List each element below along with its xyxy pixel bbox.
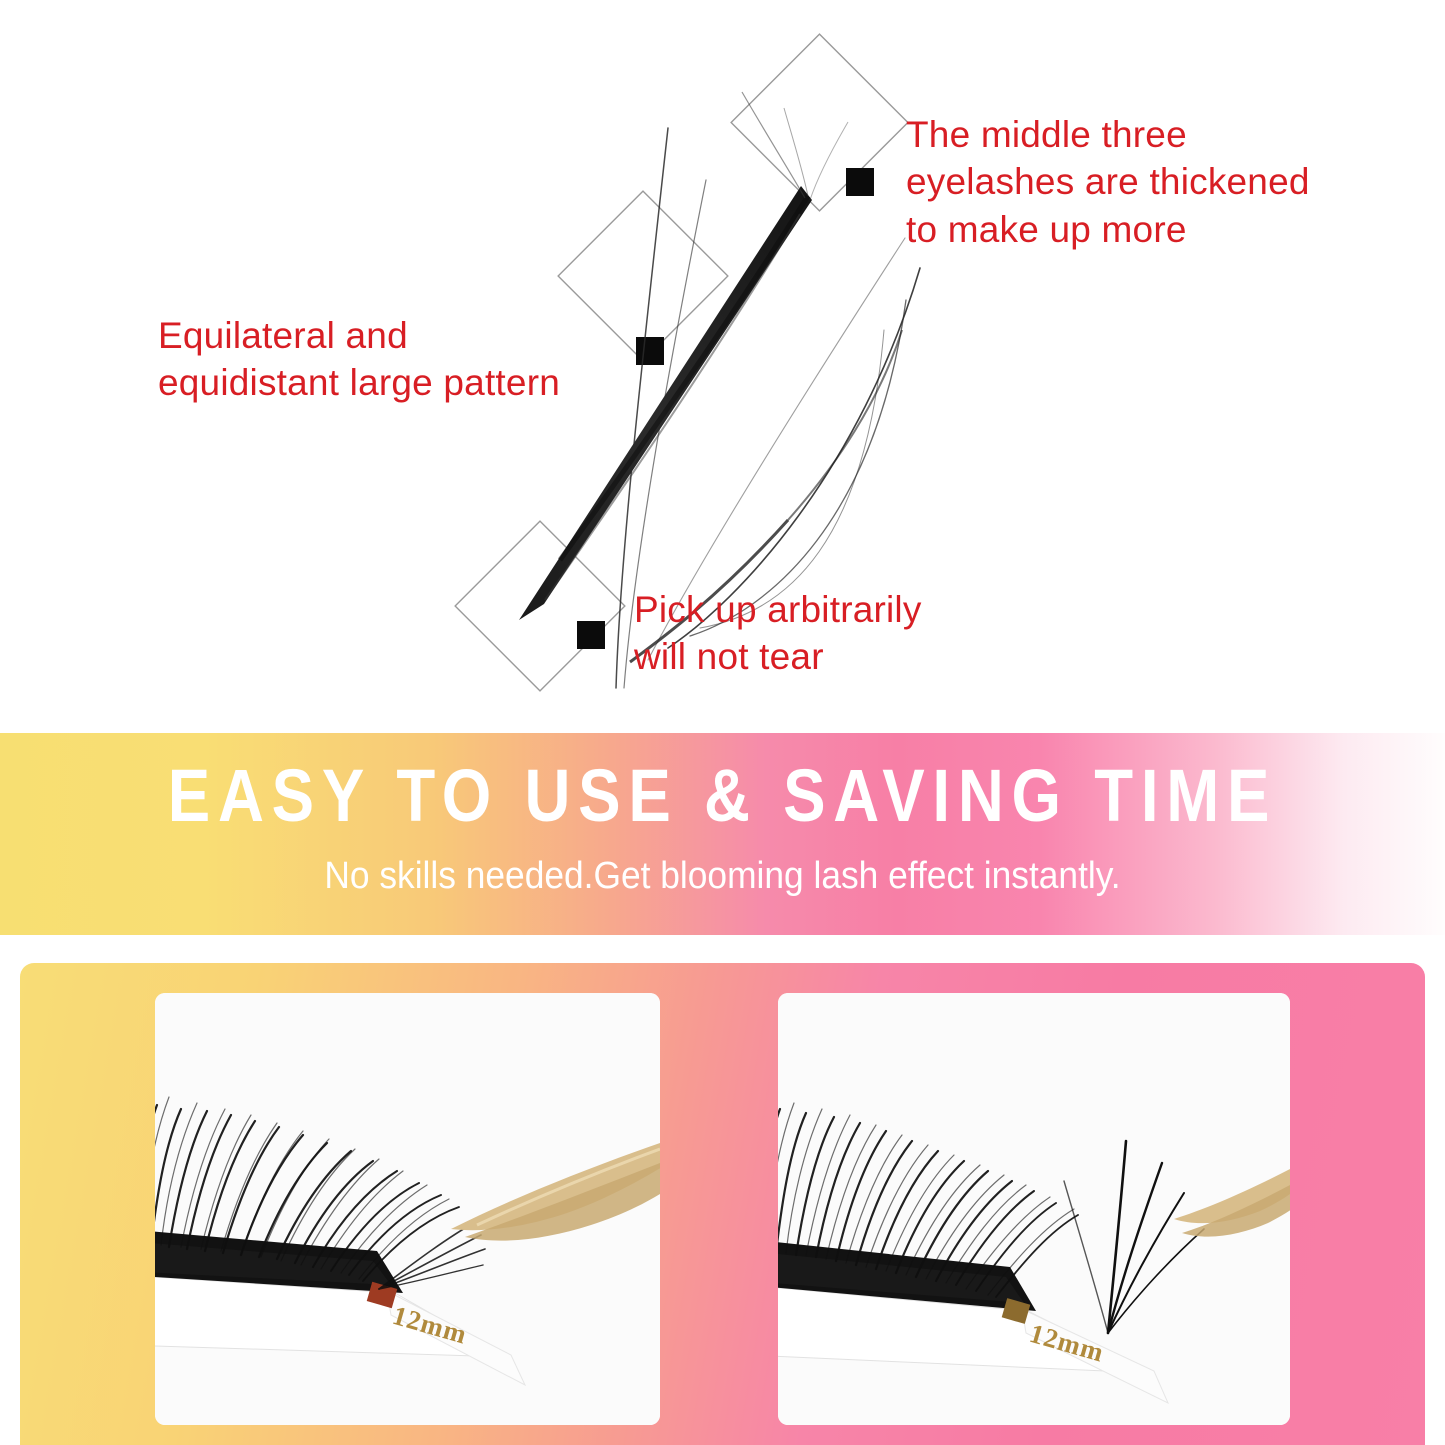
callout-text-middle-three: The middle three eyelashes are thickened… xyxy=(906,111,1310,253)
product-photo-section: 12mm Lash extension tray with gold tweez… xyxy=(0,935,1445,1445)
product-photo-card-left: 12mm Lash extension tray with gold tweez… xyxy=(155,993,660,1425)
lash-main-stem xyxy=(519,92,848,620)
photo-gradient-panel: 12mm Lash extension tray with gold tweez… xyxy=(20,963,1425,1445)
callout-text-equilateral: Equilateral and equidistant large patter… xyxy=(158,312,560,407)
banner-headline: EASY TO USE & SAVING TIME xyxy=(101,759,1344,833)
feature-diagram-section: The middle three eyelashes are thickened… xyxy=(0,0,1445,733)
diamond-frame-middle xyxy=(558,191,728,361)
lash-tray-photo-right: 12mm xyxy=(778,993,1290,1425)
marker-square-top xyxy=(846,168,874,196)
marker-square-middle xyxy=(636,337,664,365)
diamond-frame-top xyxy=(731,34,908,211)
marker-square-bottom xyxy=(577,621,605,649)
callout-text-pick-up: Pick up arbitrarily will not tear xyxy=(634,586,922,681)
banner-subheadline: No skills needed.Get blooming lash effec… xyxy=(51,857,1395,895)
product-photo-card-right: 12mm Lash extension tray with gold tweez… xyxy=(778,993,1290,1425)
promo-banner: EASY TO USE & SAVING TIME No skills need… xyxy=(0,733,1445,935)
lash-tray-photo-left: 12mm xyxy=(155,993,660,1425)
